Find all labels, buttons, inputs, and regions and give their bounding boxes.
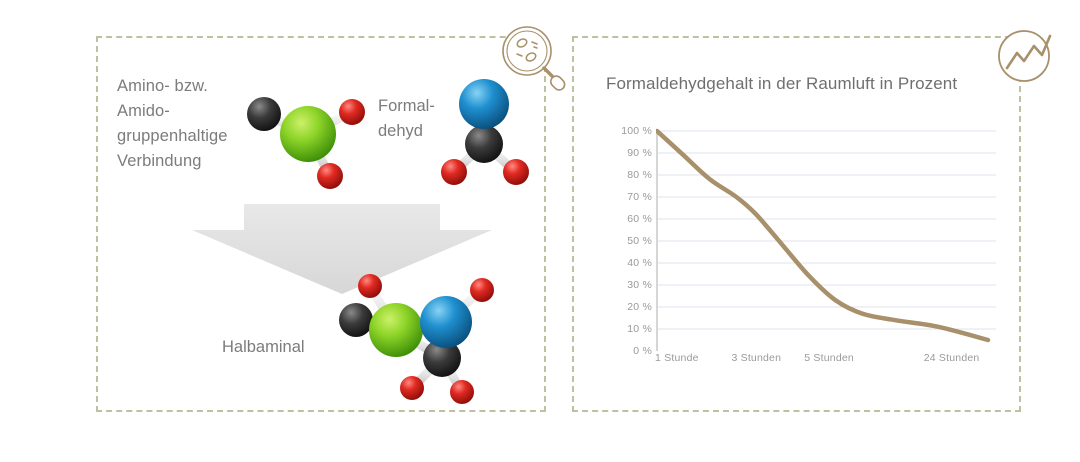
halbaminal-molecule-icon xyxy=(330,272,502,404)
y-axis-tick: 70 % xyxy=(606,191,652,203)
x-axis-tick: 3 Stunden xyxy=(731,352,781,364)
y-axis-tick: 30 % xyxy=(606,279,652,291)
atom-oxygen xyxy=(400,376,424,400)
trend-chart-circle-icon xyxy=(990,22,1064,96)
atom-oxygen xyxy=(317,163,343,189)
atom-nitrogen-group xyxy=(369,303,423,357)
atom-carbon xyxy=(247,97,281,131)
y-axis-tick: 40 % xyxy=(606,257,652,269)
product-label: Halbaminal xyxy=(222,338,305,357)
atom-carbon xyxy=(339,303,373,337)
atom-nitrogen-group xyxy=(280,106,336,162)
y-axis-tick: 80 % xyxy=(606,169,652,181)
y-axis-tick: 10 % xyxy=(606,323,652,335)
y-axis-tick: 20 % xyxy=(606,301,652,313)
y-axis-tick: 60 % xyxy=(606,213,652,225)
y-axis-labels: 100 %90 %80 %70 %60 %50 %40 %30 %20 %10 … xyxy=(600,120,652,380)
y-axis-tick: 90 % xyxy=(606,147,652,159)
atom-oxygen xyxy=(503,159,529,185)
atom-oxygen xyxy=(450,380,474,404)
magnifier-molecule-icon xyxy=(496,22,570,96)
y-axis-tick: 50 % xyxy=(606,235,652,247)
x-axis-tick: 24 Stunden xyxy=(924,352,980,364)
amino-compound-molecule-icon xyxy=(238,82,374,194)
chart-plot-area xyxy=(656,120,1000,380)
line-chart: 100 %90 %80 %70 %60 %50 %40 %30 %20 %10 … xyxy=(600,120,1000,380)
chart-title: Formaldehydgehalt in der Raumluft in Pro… xyxy=(606,74,957,94)
atom-oxygen xyxy=(339,99,365,125)
x-axis-tick: 1 Stunde xyxy=(655,352,699,364)
atom-oxygen xyxy=(358,274,382,298)
atom-nitrogen xyxy=(420,296,472,348)
series-line-formaldehyd xyxy=(657,131,988,340)
y-axis-tick: 100 % xyxy=(606,125,652,137)
x-axis-labels: 1 Stunde3 Stunden5 Stunden24 Stunden xyxy=(656,352,1000,380)
x-axis-tick: 5 Stunden xyxy=(804,352,854,364)
atom-oxygen xyxy=(441,159,467,185)
y-axis-tick: 0 % xyxy=(606,345,652,357)
gridlines xyxy=(657,131,996,329)
atom-carbon xyxy=(465,125,503,163)
atom-oxygen xyxy=(470,278,494,302)
